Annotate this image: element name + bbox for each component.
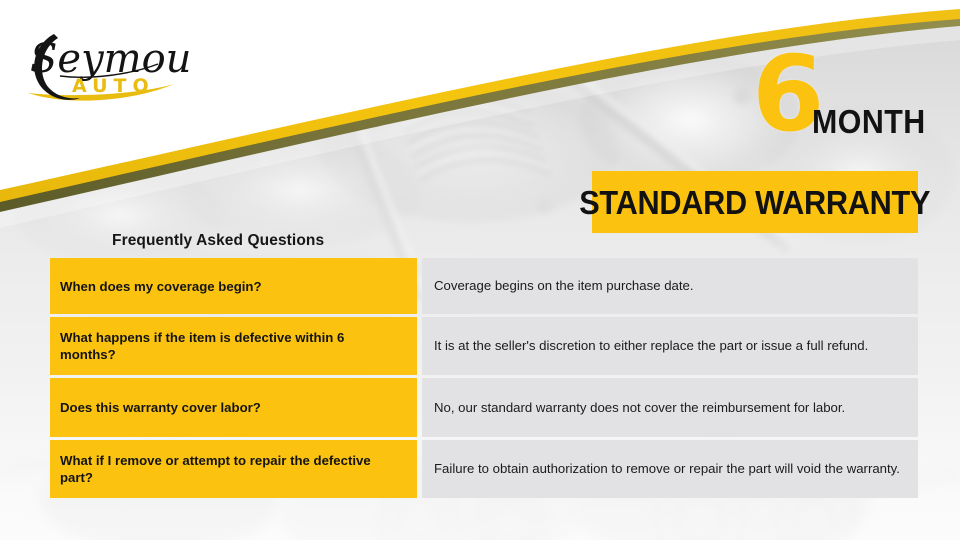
faq-row: Does this warranty cover labor? No, our … — [50, 378, 918, 437]
faq-question-cell: Does this warranty cover labor? — [50, 378, 417, 437]
faq-answer-cell: Failure to obtain authorization to remov… — [422, 440, 918, 498]
faq-question-text: What happens if the item is defective wi… — [60, 329, 403, 363]
faq-question-cell: What happens if the item is defective wi… — [50, 317, 417, 375]
faq-answer-text: It is at the seller's discretion to eith… — [434, 337, 907, 355]
faq-question-text: When does my coverage begin? — [60, 278, 262, 295]
faq-question-cell: What if I remove or attempt to repair th… — [50, 440, 417, 498]
faq-answer-text: Failure to obtain authorization to remov… — [434, 460, 907, 478]
faq-heading: Frequently Asked Questions — [112, 232, 324, 250]
faq-question-text: What if I remove or attempt to repair th… — [60, 452, 403, 486]
faq-answer-text: No, our standard warranty does not cover… — [434, 399, 907, 417]
warranty-faq-slide: Seymour AUTO 6 MONTH STANDARD WARRANTY F… — [0, 0, 960, 540]
faq-row: What happens if the item is defective wi… — [50, 317, 918, 375]
seymour-auto-logo: Seymour AUTO — [14, 14, 194, 114]
faq-row: What if I remove or attempt to repair th… — [50, 440, 918, 498]
faq-answer-cell: No, our standard warranty does not cover… — [422, 378, 918, 437]
warranty-duration-unit: MONTH — [812, 105, 926, 138]
faq-answer-cell: Coverage begins on the item purchase dat… — [422, 258, 918, 314]
faq-table: When does my coverage begin? Coverage be… — [50, 258, 918, 498]
standard-warranty-label: STANDARD WARRANTY — [579, 186, 930, 219]
faq-answer-cell: It is at the seller's discretion to eith… — [422, 317, 918, 375]
faq-question-text: Does this warranty cover labor? — [60, 399, 261, 416]
faq-answer-text: Coverage begins on the item purchase dat… — [434, 277, 907, 295]
faq-question-cell: When does my coverage begin? — [50, 258, 417, 314]
standard-warranty-banner: STANDARD WARRANTY — [592, 171, 918, 233]
logo-sub-text: AUTO — [72, 75, 155, 97]
faq-row: When does my coverage begin? Coverage be… — [50, 258, 918, 314]
